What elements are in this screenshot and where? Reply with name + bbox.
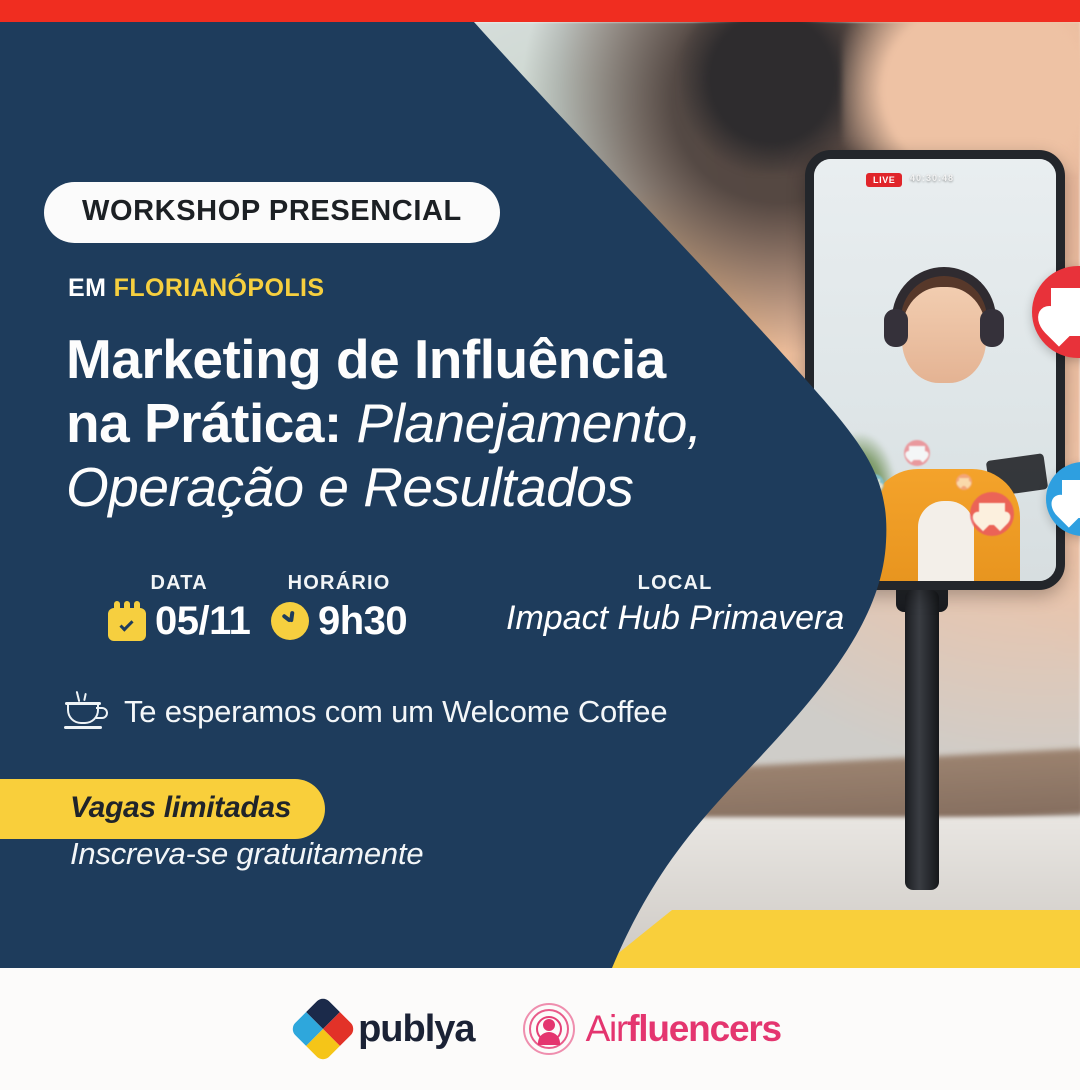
- airfluencers-text-light: Air: [586, 1008, 628, 1049]
- event-details-row: DATA 05/11 HORÁRIO 9h30: [66, 572, 846, 648]
- city-prefix: EM: [68, 274, 114, 302]
- headline-line1: Marketing de Influência: [66, 328, 666, 390]
- time-value: 9h30: [318, 601, 407, 641]
- publya-wordmark: publya: [358, 1008, 474, 1051]
- footer-logos: publya Airfluencers: [0, 968, 1080, 1090]
- detail-time: HORÁRIO 9h30: [271, 572, 407, 641]
- coffee-text: Te esperamos com um Welcome Coffee: [124, 694, 667, 730]
- page-title: Marketing de Influência na Prática: Plan…: [66, 328, 806, 519]
- airfluencers-text-bold: fluencers: [627, 1008, 781, 1049]
- headline-line2-italic: Planejamento,: [342, 392, 702, 454]
- limited-seats-badge: Vagas limitadas: [0, 779, 325, 839]
- headline-line2-bold: na Prática:: [66, 392, 342, 454]
- welcome-coffee-line: Te esperamos com um Welcome Coffee: [64, 690, 667, 734]
- headline-line3-italic: Operação e Resultados: [66, 456, 633, 518]
- broadcast-person-icon: [523, 1006, 575, 1052]
- diamond-quadrant-icon: [289, 995, 357, 1063]
- publya-logo: publya: [299, 1005, 474, 1053]
- city-line: EM FLORIANÓPOLIS: [68, 274, 324, 303]
- date-label: DATA: [108, 572, 250, 595]
- detail-place: LOCAL Impact Hub Primavera: [506, 572, 844, 635]
- airfluencers-logo: Airfluencers: [523, 1006, 781, 1052]
- subscribe-text: Inscreva-se gratuitamente: [70, 836, 423, 872]
- poster-content: WORKSHOP PRESENCIAL EM FLORIANÓPOLIS Mar…: [0, 0, 1080, 1090]
- time-label: HORÁRIO: [271, 572, 407, 595]
- city-name: FLORIANÓPOLIS: [114, 274, 325, 302]
- place-value: Impact Hub Primavera: [506, 601, 844, 635]
- event-poster: LIVE 40:30:48 WORKSH: [0, 0, 1080, 1090]
- airfluencers-wordmark: Airfluencers: [586, 1008, 781, 1050]
- workshop-badge: WORKSHOP PRESENCIAL: [44, 182, 500, 243]
- place-label: LOCAL: [506, 572, 844, 595]
- date-value: 05/11: [155, 601, 250, 641]
- detail-date: DATA 05/11: [108, 572, 250, 641]
- clock-icon: [271, 602, 309, 640]
- coffee-cup-icon: [64, 690, 106, 734]
- calendar-icon: [108, 601, 146, 641]
